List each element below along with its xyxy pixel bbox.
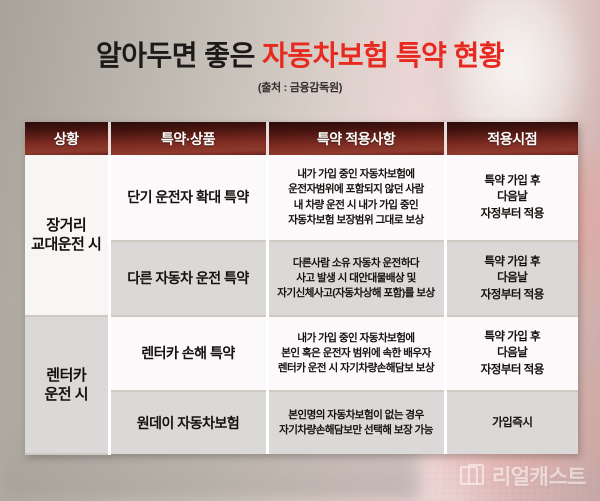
product-cell: 단기 운전자 확대 특약 (109, 155, 267, 241)
source-note: (출처 : 금융감독원) (0, 79, 600, 95)
column-header-situation: 상황 (25, 122, 109, 155)
table-row: 장거리 교대운전 시 단기 운전자 확대 특약 내가 가입 중인 자동차보험에 … (25, 155, 578, 241)
title-black-part: 알아두면 좋은 (96, 40, 262, 71)
situation-cell-rental-car: 렌터카 운전 시 (25, 316, 109, 454)
detail-line: 자기신체사고(자동차상해 포함)를 보상 (277, 287, 434, 299)
timing-line: 다음날 (497, 347, 527, 359)
situation-line-1: 렌터카 (46, 367, 86, 384)
situation-line-1: 장거리 (46, 217, 86, 234)
column-header-timing: 적용시점 (445, 122, 578, 155)
timing-line: 특약 가입 후 (484, 175, 540, 187)
detail-line: 자동차보험 보장범위 그대로 보상 (288, 214, 424, 226)
insurance-rider-table: 상황 특약·상품 특약 적용사항 적용시점 장거리 교대운전 시 단기 운전자 … (25, 122, 578, 455)
detail-line: 렌터카 운전 시 자기차량손해담보 보상 (278, 362, 434, 374)
situation-cell-long-distance: 장거리 교대운전 시 (25, 155, 109, 316)
timing-line: 자정부터 적용 (481, 364, 544, 376)
timing-cell: 특약 가입 후 다음날 자정부터 적용 (445, 316, 578, 391)
product-cell: 원데이 자동차보험 (109, 391, 267, 454)
detail-cell: 본인명의 자동차보험이 없는 경우 자기차량손해담보만 선택해 보장 가능 (267, 391, 445, 454)
table-body: 장거리 교대운전 시 단기 운전자 확대 특약 내가 가입 중인 자동차보험에 … (25, 155, 578, 454)
title-block: 알아두면 좋은 자동차보험 특약 현황 (출처 : 금융감독원) (0, 40, 600, 95)
situation-line-2: 교대운전 시 (31, 236, 101, 253)
table-row: 렌터카 운전 시 렌터카 손해 특약 내가 가입 중인 자동차보험에 본인 혹은… (25, 316, 578, 391)
situation-line-2: 운전 시 (44, 386, 88, 403)
detail-cell: 다른사람 소유 자동차 운전하다 사고 발생 시 대안대물배상 및 자기신체사고… (267, 241, 445, 316)
detail-line: 자기차량손해담보만 선택해 보장 가능 (279, 424, 433, 436)
timing-cell: 특약 가입 후 다음날 자정부터 적용 (445, 241, 578, 316)
product-cell: 렌터카 손해 특약 (109, 316, 267, 391)
timing-cell: 가입즉시 (445, 391, 578, 454)
timing-line: 특약 가입 후 (484, 331, 540, 343)
detail-cell: 내가 가입 중인 자동차보험에 본인 혹은 운전자 범위에 속한 배우자 렌터카… (267, 316, 445, 391)
timing-cell: 특약 가입 후 다음날 자정부터 적용 (445, 155, 578, 241)
column-header-detail: 특약 적용사항 (267, 122, 445, 155)
detail-line: 내가 가입 중인 자동차보험에 (297, 332, 414, 344)
detail-line: 내가 가입 중인 자동차보험에 (297, 168, 414, 180)
title-red-part: 자동차보험 특약 현황 (262, 40, 504, 71)
column-header-product: 특약·상품 (109, 122, 267, 155)
table-header-row: 상황 특약·상품 특약 적용사항 적용시점 (25, 122, 578, 155)
detail-line: 운전자범위에 포함되지 않던 사람 (288, 183, 424, 195)
detail-cell: 내가 가입 중인 자동차보험에 운전자범위에 포함되지 않던 사람 내 차량 운… (267, 155, 445, 241)
detail-line: 사고 발생 시 대안대물배상 및 (296, 272, 416, 284)
detail-line: 본인명의 자동차보험이 없는 경우 (288, 409, 424, 421)
timing-line: 다음날 (497, 191, 527, 203)
infographic-canvas: 알아두면 좋은 자동차보험 특약 현황 (출처 : 금융감독원) 상황 특약·상… (0, 0, 600, 501)
detail-line: 본인 혹은 운전자 범위에 속한 배우자 (281, 347, 431, 359)
page-title: 알아두면 좋은 자동차보험 특약 현황 (0, 40, 600, 72)
timing-line: 다음날 (497, 272, 527, 284)
timing-line: 특약 가입 후 (484, 256, 540, 268)
detail-line: 다른사람 소유 자동차 운전하다 (293, 257, 419, 269)
timing-line: 가입즉시 (492, 417, 532, 429)
product-cell: 다른 자동차 운전 특약 (109, 241, 267, 316)
timing-line: 자정부터 적용 (481, 289, 544, 301)
detail-line: 내 차량 운전 시 내가 가입 중인 (294, 199, 418, 211)
timing-line: 자정부터 적용 (481, 208, 544, 220)
